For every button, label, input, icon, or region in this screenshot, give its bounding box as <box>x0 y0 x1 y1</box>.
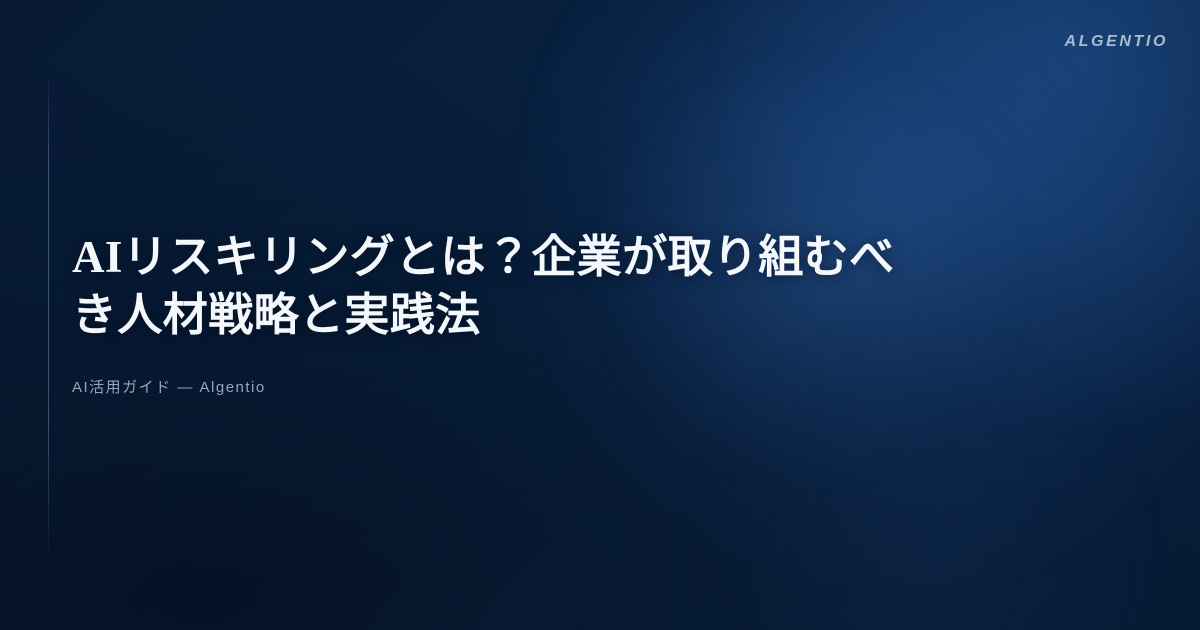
og-hero-card: ALGENTIO AIリスキリングとは？企業が取り組むべき人材戦略と実践法 AI… <box>0 0 1200 630</box>
hero-subtitle: AI活用ガイド — Algentio <box>72 344 972 395</box>
hero-content: AIリスキリングとは？企業が取り組むべき人材戦略と実践法 AI活用ガイド — A… <box>72 228 972 395</box>
left-accent-rule <box>48 80 49 550</box>
page-title: AIリスキリングとは？企業が取り組むべき人材戦略と実践法 <box>72 228 932 344</box>
brand-wordmark: ALGENTIO <box>1065 34 1168 50</box>
